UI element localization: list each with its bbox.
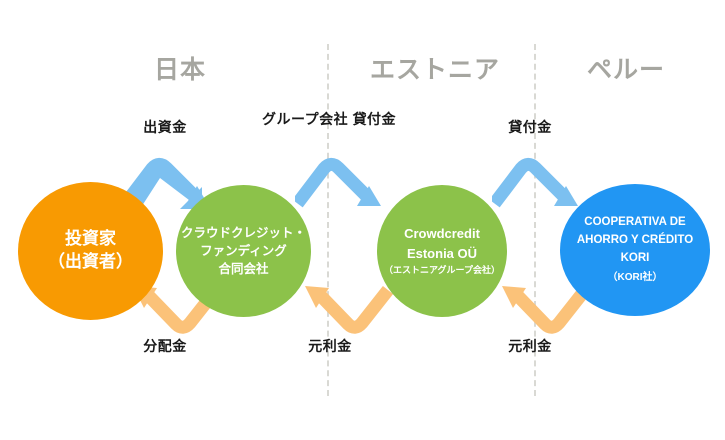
flow-label-shusshikin-line-1: 出資金 [143, 119, 187, 135]
node-crowdcredit-funding-line-2: ファンディング [200, 242, 287, 260]
node-cooperativa-kori-line-2: AHORRO Y CRÉDITO [577, 232, 693, 250]
flow-label-group-loan-line-1: グループ会社 [262, 111, 348, 127]
flow-label-kashitsukekin-line-1: 貸付金 [508, 119, 552, 135]
country-label-japan: 日本 [105, 58, 255, 83]
flow-label-ganrikin-1-line-1: 元利金 [308, 338, 352, 354]
country-label-peru: ペルー [546, 58, 706, 83]
node-cooperativa-kori-line-3: KORI [621, 250, 650, 268]
node-cooperativa-kori-line-1: COOPERATIVA DE [584, 214, 685, 232]
flow-label-bunpaikin: 分配金 [100, 338, 230, 356]
node-crowdcredit-estonia-line-1: Crowdcredit [404, 224, 480, 244]
node-crowdcredit-funding-line-1: クラウドクレジット・ [181, 224, 306, 242]
flow-label-ganrikin-2: 元利金 [465, 338, 595, 356]
node-crowdcredit-estonia-line-2: Estonia OÜ [407, 244, 477, 264]
node-crowdcredit-estonia[interactable]: Crowdcredit Estonia OÜ （エストニアグループ会社） [377, 185, 507, 317]
flow-label-ganrikin-1: 元利金 [265, 338, 395, 356]
flow-label-shusshikin: 出資金 [100, 119, 230, 137]
diagram-canvas: 日本 エストニア ペルー 出資金 グループ会社 貸付金 貸付金 分配金 元利金 … [0, 0, 725, 440]
node-investor[interactable]: 投資家 （出資者） [18, 182, 163, 320]
flow-label-ganrikin-2-line-1: 元利金 [508, 338, 552, 354]
node-cooperativa-kori[interactable]: COOPERATIVA DE AHORRO Y CRÉDITO KORI （KO… [560, 184, 710, 316]
node-crowdcredit-funding[interactable]: クラウドクレジット・ ファンディング 合同会社 [176, 185, 311, 317]
flow-label-kashitsukekin: 貸付金 [465, 119, 595, 137]
node-crowdcredit-estonia-subtitle: （エストニアグループ会社） [384, 264, 500, 278]
flow-label-bunpaikin-line-1: 分配金 [143, 338, 187, 354]
node-investor-line-1: 投資家 [65, 228, 116, 251]
flow-label-group-loan: グループ会社 貸付金 [262, 111, 392, 129]
country-label-estonia: エストニア [340, 58, 530, 83]
node-crowdcredit-funding-line-3: 合同会社 [218, 260, 268, 278]
arrow-out-funding-to-estonia [295, 156, 393, 212]
node-cooperativa-kori-subtitle: （KORI社） [608, 270, 663, 286]
arrow-out-estonia-to-kori [492, 156, 590, 212]
arrow-back-estonia-to-funding [295, 282, 393, 338]
flow-label-group-loan-line-2: 貸付金 [353, 111, 397, 127]
node-investor-line-2: （出資者） [48, 251, 133, 274]
